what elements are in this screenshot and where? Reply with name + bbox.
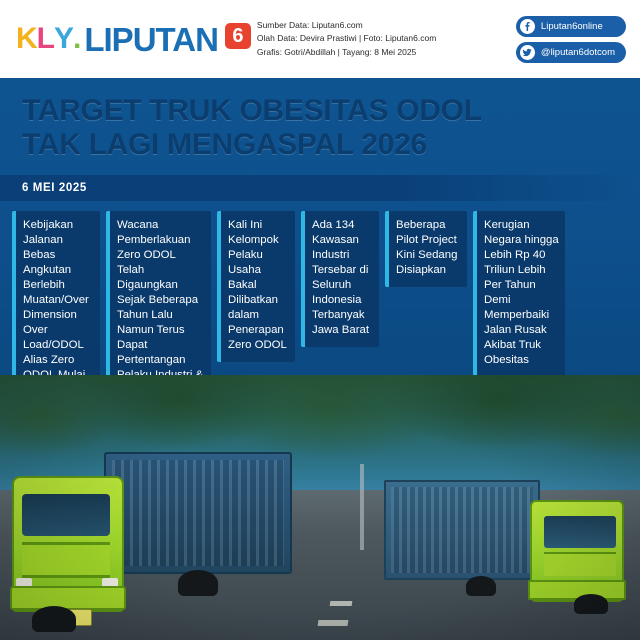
- title-line-2: TAK LAGI MENGASPAL 2026: [22, 128, 618, 162]
- social-links: Liputan6online @liputan6dotcom: [516, 16, 630, 63]
- truck-photo: [0, 375, 640, 640]
- truck-cargo-box: [384, 480, 540, 580]
- twitter-icon: [520, 45, 535, 60]
- fact-card-text: Beberapa Pilot Project Kini Sedang Disia…: [396, 218, 461, 278]
- truck-cargo-box: [104, 452, 292, 574]
- truck-front-wheel: [32, 606, 76, 632]
- truck-windshield: [544, 516, 616, 548]
- truck-rear-wheel: [178, 570, 218, 596]
- truck-bumper: [10, 586, 126, 610]
- liputan-wordmark: LIPUTAN: [84, 23, 218, 56]
- title-block: TARGET TRUK OBESITAS ODOL TAK LAGI MENGA…: [0, 78, 640, 163]
- fact-card: Ada 134 Kawasan Industri Tersebar di Sel…: [301, 211, 379, 347]
- kly-logo: KLY.: [16, 24, 80, 54]
- header-bar: KLY. LIPUTAN 6 Sumber Data: Liputan6.com…: [0, 0, 640, 78]
- kly-letter-k: K: [16, 24, 37, 54]
- green-truck-right: [386, 466, 626, 614]
- truck-rear-wheel: [466, 576, 496, 596]
- facebook-icon: [520, 19, 535, 34]
- date-label: 6 MEI 2025: [0, 182, 87, 194]
- facebook-handle: Liputan6online: [541, 21, 603, 32]
- kly-dot: .: [73, 24, 80, 54]
- twitter-handle: @liputan6dotcom: [541, 47, 615, 58]
- truck-front-wheel: [574, 594, 608, 614]
- kly-letter-l: L: [37, 24, 54, 54]
- page-title: TARGET TRUK OBESITAS ODOL TAK LAGI MENGA…: [22, 94, 618, 161]
- truck-windshield: [22, 494, 110, 536]
- credits-block: Sumber Data: Liputan6.com Olah Data: Dev…: [251, 19, 516, 59]
- fact-card-text: Kali Ini Kelompok Pelaku Usaha Bakal Dil…: [228, 218, 289, 352]
- credit-line-1: Sumber Data: Liputan6.com: [257, 19, 516, 32]
- liputan-six-badge: 6: [225, 23, 251, 49]
- date-bar: 6 MEI 2025: [0, 175, 640, 201]
- title-line-1: TARGET TRUK OBESITAS ODOL: [22, 94, 618, 128]
- facebook-link[interactable]: Liputan6online: [516, 16, 626, 37]
- fact-card: Beberapa Pilot Project Kini Sedang Disia…: [385, 211, 467, 287]
- kly-letter-y: Y: [54, 24, 73, 54]
- road-divider: [360, 464, 364, 550]
- road-marking: [318, 620, 349, 626]
- infographic-poster: KLY. LIPUTAN 6 Sumber Data: Liputan6.com…: [0, 0, 640, 640]
- fact-card: Kali Ini Kelompok Pelaku Usaha Bakal Dil…: [217, 211, 295, 361]
- credit-line-2: Olah Data: Devira Prastiwi | Foto: Liput…: [257, 32, 516, 45]
- fact-card-text: Ada 134 Kawasan Industri Tersebar di Sel…: [312, 218, 373, 338]
- truck-grille: [22, 542, 110, 578]
- credit-line-3: Grafis: Gotri/Abdillah | Tayang: 8 Mei 2…: [257, 46, 516, 59]
- fact-card: Kerugian Negara hingga Lebih Rp 40 Trili…: [473, 211, 565, 376]
- green-truck-left: [8, 422, 286, 632]
- brand-logo[interactable]: KLY. LIPUTAN 6: [10, 23, 251, 56]
- twitter-link[interactable]: @liputan6dotcom: [516, 42, 626, 63]
- fact-card-text: Kerugian Negara hingga Lebih Rp 40 Trili…: [484, 218, 559, 367]
- road-marking: [330, 601, 353, 606]
- truck-grille: [544, 552, 616, 576]
